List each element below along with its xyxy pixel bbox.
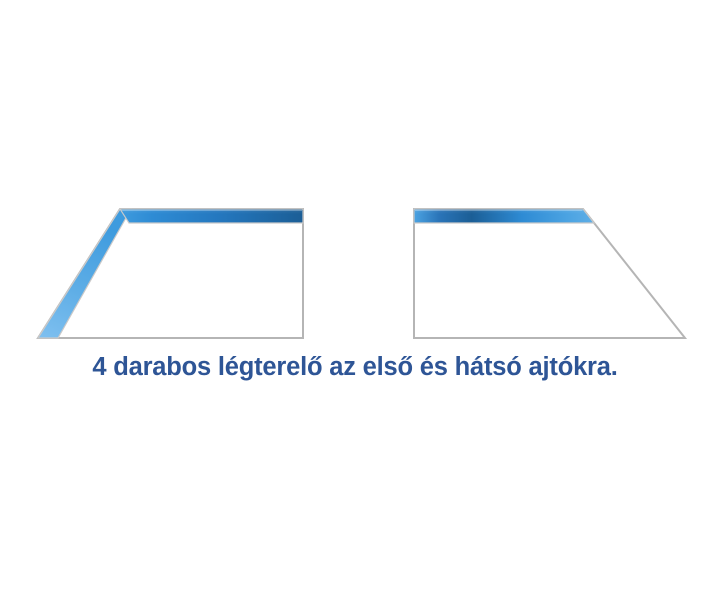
front-window-outline xyxy=(38,209,303,338)
window-deflector-diagram xyxy=(0,0,710,350)
product-caption: 4 darabos légterelő az első és hátsó ajt… xyxy=(92,352,617,382)
product-illustration: 4 darabos légterelő az első és hátsó ajt… xyxy=(0,0,710,613)
rear-door-window-group xyxy=(414,209,685,338)
rear-deflector-top-highlight xyxy=(415,210,588,214)
diagram-canvas xyxy=(0,0,710,350)
rear-window-outline xyxy=(414,209,685,338)
front-door-window-group xyxy=(38,209,303,338)
caption-row: 4 darabos légterelő az első és hátsó ajt… xyxy=(0,352,710,382)
front-deflector-top-highlight xyxy=(121,210,302,214)
